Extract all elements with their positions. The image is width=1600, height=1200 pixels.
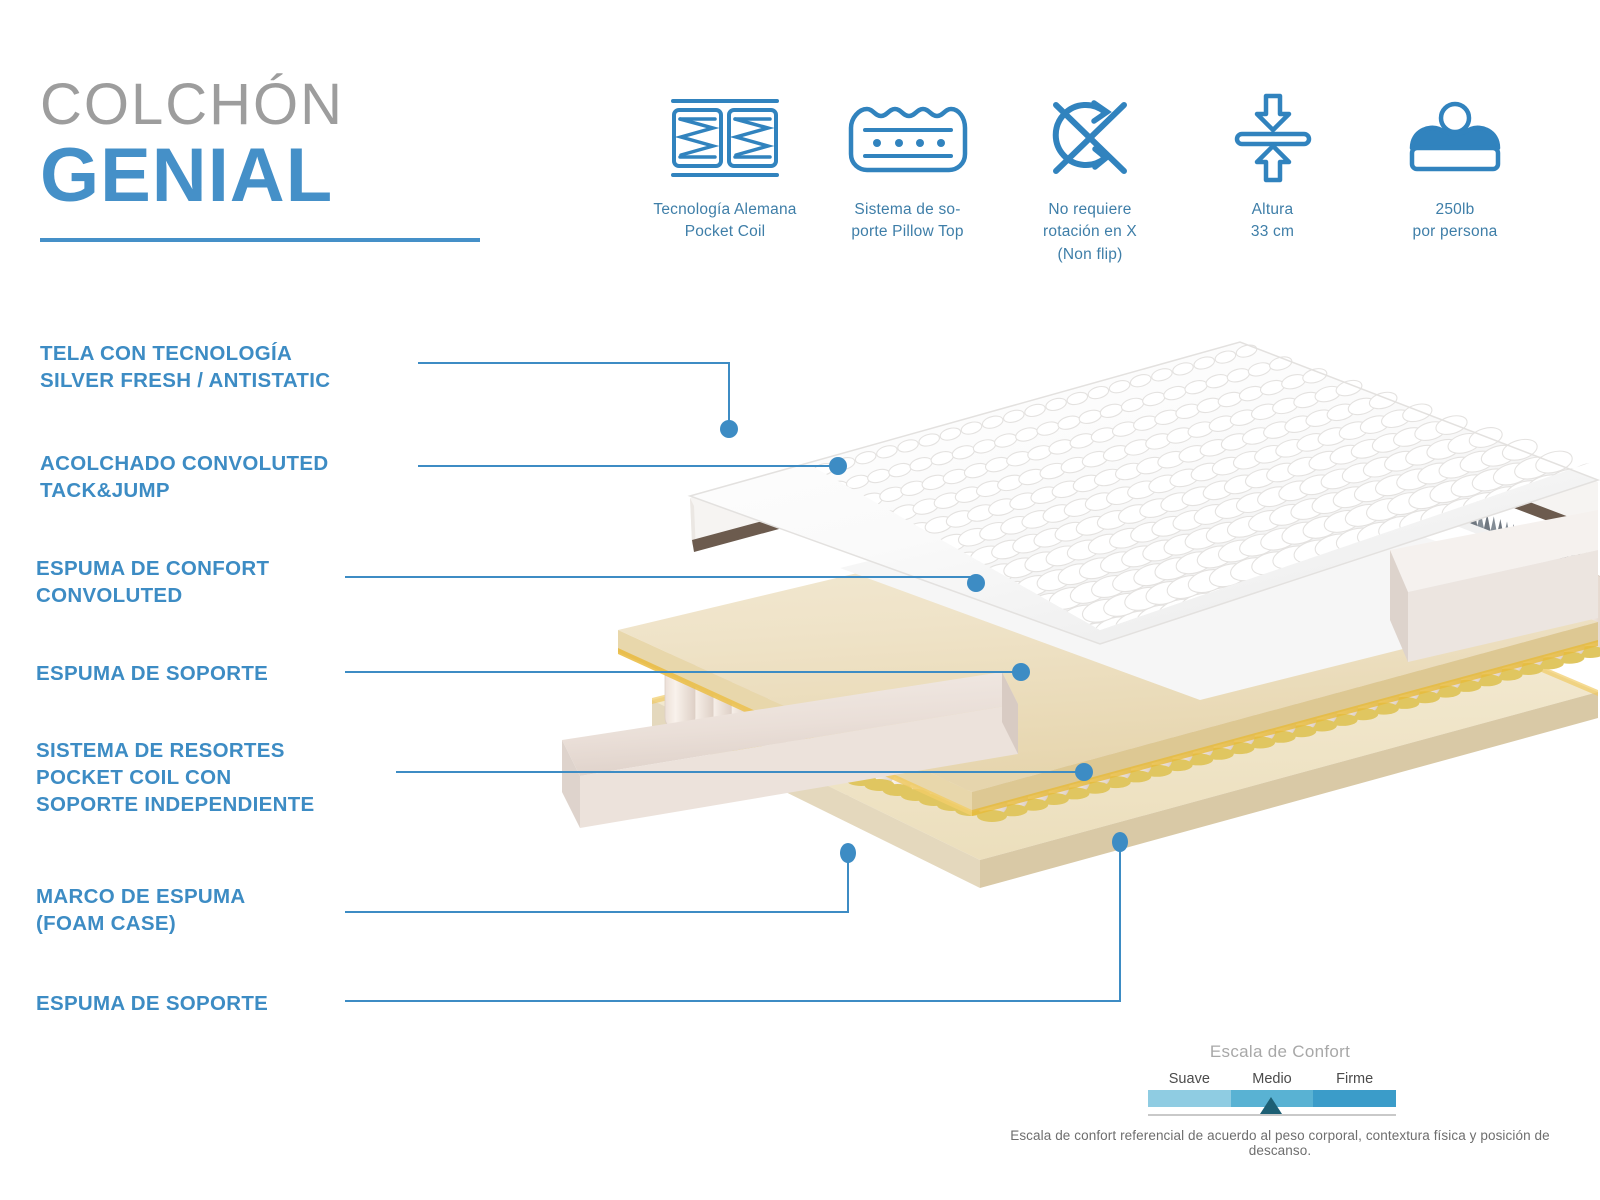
comfort-level-medio: Medio: [1231, 1071, 1314, 1087]
comfort-scale-marker: [1260, 1097, 1282, 1114]
comfort-level-firme: Firme: [1313, 1071, 1396, 1087]
callout-tela-silver-fresh: TELA CON TECNOLOGÍASILVER FRESH / ANTIST…: [40, 340, 330, 394]
comfort-scale-underline: [1148, 1114, 1396, 1116]
callout-sistema-resortes: SISTEMA DE RESORTESPOCKET COIL CONSOPORT…: [36, 737, 315, 818]
comfort-segment-suave: [1148, 1090, 1231, 1107]
comfort-scale-title: Escala de Confort: [1160, 1042, 1400, 1062]
callout-espuma-soporte-inferior: ESPUMA DE SOPORTE: [36, 990, 268, 1017]
comfort-scale-labels: Suave Medio Firme: [1148, 1071, 1396, 1087]
comfort-segment-firme: [1313, 1090, 1396, 1107]
callout-espuma-soporte-superior: ESPUMA DE SOPORTE: [36, 660, 268, 687]
callout-espuma-confort: ESPUMA DE CONFORTCONVOLUTED: [36, 555, 269, 609]
callout-acolchado-convoluted: ACOLCHADO CONVOLUTEDTACK&JUMP: [40, 450, 328, 504]
comfort-scale-disclaimer: Escala de confort referencial de acuerdo…: [980, 1128, 1580, 1158]
callout-marco-espuma: MARCO DE ESPUMA(FOAM CASE): [36, 883, 246, 937]
infographic-page: COLCHÓN GENIAL: [0, 0, 1600, 1200]
comfort-level-suave: Suave: [1148, 1071, 1231, 1087]
